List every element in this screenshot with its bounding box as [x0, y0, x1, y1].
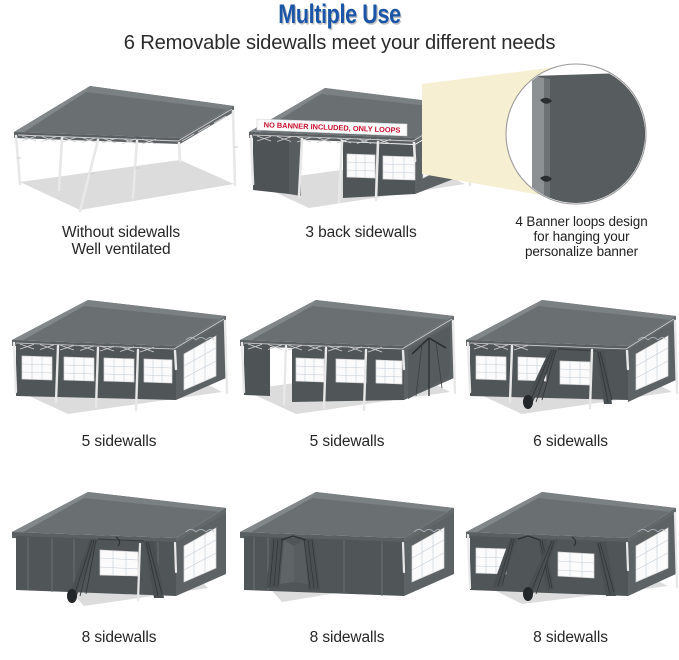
- tent-illustration-no-sidewalls: [2, 72, 240, 232]
- product-variant-8-sidewalls-b: 8 sidewalls: [236, 484, 458, 658]
- magnifier-callout: [484, 62, 679, 212]
- callout-banner-loops: 4 Banner loops design for hanging your p…: [484, 62, 679, 267]
- product-variant-5-sidewalls-b: 5 sidewalls: [236, 292, 458, 462]
- caption-line-1: 6 sidewalls: [462, 433, 679, 451]
- tent-illustration-5-sidewalls-a: [8, 292, 230, 432]
- caption-line-3: personalize banner: [484, 244, 679, 260]
- product-variant-8-sidewalls-a: 8 sidewalls: [8, 484, 230, 658]
- caption-line-1: 5 sidewalls: [8, 433, 230, 451]
- tent-illustration-8-sidewalls-a: [8, 484, 230, 628]
- tent-illustration-5-sidewalls-b: [236, 292, 458, 432]
- product-variant-5-sidewalls-a: 5 sidewalls: [8, 292, 230, 462]
- caption-line-1: 8 sidewalls: [462, 629, 679, 647]
- caption-line-2: for hanging your: [484, 229, 679, 245]
- caption-line-2: Well ventilated: [2, 241, 240, 259]
- fabric-corner-detail: [532, 70, 654, 216]
- tent-illustration-6-sidewalls: [462, 292, 679, 432]
- page-title: Multiple Use: [68, 0, 611, 30]
- caption-line-1: 8 sidewalls: [8, 629, 230, 647]
- caption-line-1: Without sidewalls: [2, 224, 240, 242]
- caption-line-1: 3 back sidewalls: [243, 224, 479, 242]
- caption-line-1: 8 sidewalls: [236, 629, 458, 647]
- tent-illustration-8-sidewalls-c: [462, 484, 679, 628]
- caption-line-1: 4 Banner loops design: [484, 214, 679, 230]
- page-subtitle: 6 Removable sidewalls meet your differen…: [5, 31, 674, 55]
- caption-line-1: 5 sidewalls: [236, 433, 458, 451]
- product-variant-6-sidewalls: 6 sidewalls: [462, 292, 679, 462]
- infographic-page: Multiple Use 6 Removable sidewalls meet …: [0, 0, 679, 660]
- product-variant-8-sidewalls-c: 8 sidewalls: [462, 484, 679, 658]
- product-variant-without-sidewalls: Without sidewalls Well ventilated: [2, 72, 240, 262]
- tent-illustration-8-sidewalls-b: [236, 484, 458, 628]
